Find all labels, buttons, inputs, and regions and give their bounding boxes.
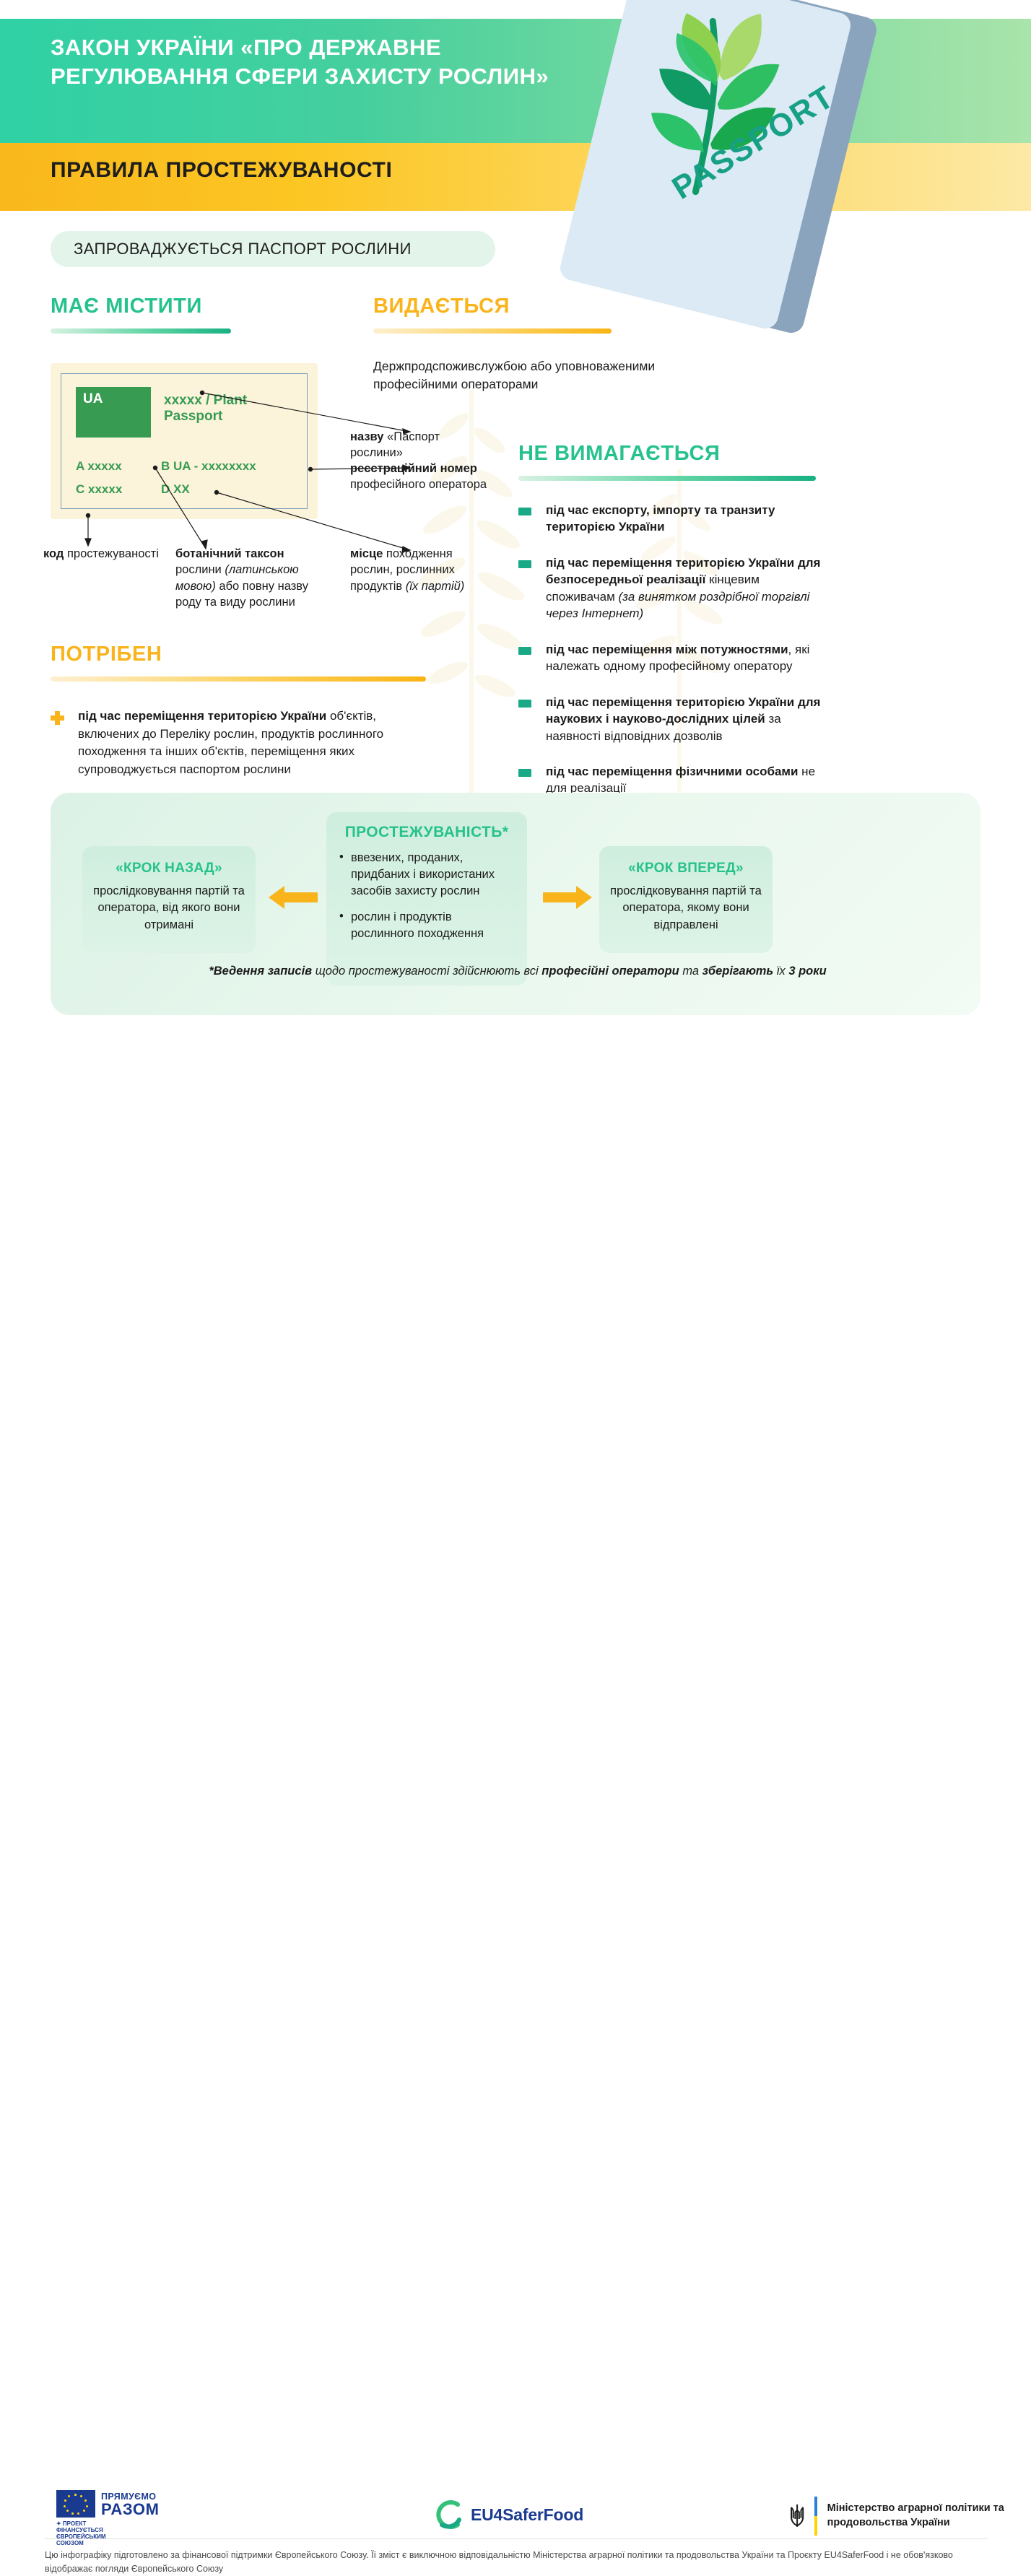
annotation-code: код простежуваності [43, 546, 166, 562]
page-footer: ПРЯМУЄМО РАЗОМ ✦ ПРОЕКТ ФІНАНСУЄТЬСЯ ЄВР… [0, 1240, 1031, 1359]
plus-bullet-icon [51, 711, 64, 725]
annotation-code-bold: код [43, 547, 64, 560]
not-required-list: під час експорту, імпорту та транзиту те… [518, 502, 827, 816]
required-item-bold: під час переміщення територією України [78, 709, 326, 723]
footnote-part-e: зберігають [702, 965, 774, 978]
step-forward-text: прослідковування партій та оператора, як… [610, 884, 762, 931]
annotation-place-bold: місце [350, 547, 383, 560]
eu4saferfood-mark-icon [433, 2498, 466, 2531]
list-item: рослин і продуктів рослинного походження [339, 909, 514, 942]
eu-flag-icon [56, 2490, 95, 2518]
traceability-step-forward-box: «КРОК ВПЕРЕД» прослідковування партій та… [599, 846, 773, 953]
list-item: під час переміщення між потужностями, як… [518, 641, 827, 675]
section-must-contain: МАЄ МІСТИТИ [51, 295, 231, 334]
annotation-name-bold: назву [350, 430, 383, 443]
ukraine-trident-icon [788, 2497, 806, 2535]
step-back-text: прослідковування партій та оператора, ві… [93, 884, 245, 931]
item-bold: під час переміщення фізичними особами [546, 765, 798, 778]
page-subtitle: ПРАВИЛА ПРОСТЕЖУВАНОСТІ [51, 158, 392, 183]
country-flag-box: UA [76, 387, 151, 438]
annotation-place-italic: (їх партій) [406, 580, 465, 593]
required-rule [51, 676, 426, 682]
item-bold: під час переміщення територією України д… [546, 556, 820, 586]
page-title: ЗАКОН УКРАЇНИ «ПРО ДЕРЖАВНЕ РЕГУЛЮВАННЯ … [51, 33, 599, 92]
ministry-name: Міністерство аграрної політики та продов… [827, 2502, 1031, 2530]
arrow-left-icon [269, 885, 318, 910]
item-bold: під час експорту, імпорту та транзиту те… [546, 503, 775, 534]
section-not-required: НЕ ВИМАГАЄТЬСЯ [518, 442, 816, 481]
must-contain-title: МАЄ МІСТИТИ [51, 295, 231, 318]
traceability-center-title: ПРОСТЕЖУВАНІСТЬ* [339, 824, 514, 841]
plant-passport-card-border: UA xxxxx / Plant Passport A xxxxx B UA -… [61, 373, 308, 509]
traceability-footnote: *Ведення записів щодо простежуваності зд… [74, 965, 962, 978]
footnote-part-c: професійні оператори [541, 965, 679, 978]
required-item: під час переміщення територією України о… [51, 708, 426, 779]
annotation-code-rest: простежуваності [64, 547, 158, 560]
issued-by-title: ВИДАЄТЬСЯ [373, 295, 612, 318]
footer-divider [45, 2538, 988, 2539]
annotation-registration: реєстраційний номер професійного операто… [350, 461, 487, 493]
list-item: під час переміщення територією України д… [518, 694, 827, 744]
not-required-rule [518, 476, 816, 481]
plant-passport-banner: ЗАПРОВАДЖУЄТЬСЯ ПАСПОРТ РОСЛИНИ [51, 231, 495, 267]
footnote-part-a: *Ведення записів [209, 965, 312, 978]
square-bullet-icon [518, 647, 531, 655]
eu4saferfood-label: EU4SaferFood [471, 2505, 583, 2525]
page-header: ЗАКОН УКРАЇНИ «ПРО ДЕРЖАВНЕ РЕГУЛЮВАННЯ … [0, 0, 1031, 211]
card-code-d: D XX [161, 482, 190, 497]
ministry-logo: Міністерство аграрної політики та продов… [788, 2497, 1031, 2536]
list-item: під час переміщення фізичними особами не… [518, 763, 827, 797]
square-bullet-icon [518, 700, 531, 708]
eu-funding-logo: ПРЯМУЄМО РАЗОМ ✦ ПРОЕКТ ФІНАНСУЄТЬСЯ ЄВР… [56, 2490, 95, 2518]
annotation-place: місце походження рослин, рослинних проду… [350, 546, 491, 594]
list-item: ввезених, проданих, придбаних і використ… [339, 850, 514, 899]
ukraine-flag-bar [814, 2497, 817, 2536]
footnote-part-g: 3 роки [788, 965, 826, 978]
square-bullet-icon [518, 508, 531, 515]
eu-logo-line2: РАЗОМ [101, 2500, 160, 2519]
issued-by-text: Держпродспоживслужбою або уповноваженими… [373, 357, 684, 394]
annotation-taxon-rest1: рослини [175, 563, 225, 576]
traceability-center-box: ПРОСТЕЖУВАНІСТЬ* ввезених, проданих, при… [326, 812, 527, 985]
square-bullet-icon [518, 560, 531, 568]
annotation-taxon: ботанічний таксон рослини (латинською мо… [175, 546, 320, 610]
traceability-center-list: ввезених, проданих, придбаних і використ… [339, 850, 514, 942]
square-bullet-icon [518, 769, 531, 777]
annotation-registration-bold: реєстраційний номер [350, 462, 477, 475]
passport-illustration: PASSPORT [578, 0, 881, 345]
card-code-c: C xxxxx [76, 482, 122, 497]
eu-logo-caption: ✦ ПРОЕКТ ФІНАНСУЄТЬСЯ ЄВРОПЕЙСЬКИМ СОЮЗО… [56, 2520, 106, 2546]
section-issued-by: ВИДАЄТЬСЯ [373, 295, 612, 334]
card-code-a: A xxxxx [76, 459, 122, 474]
annotation-taxon-bold: ботанічний таксон [175, 547, 284, 560]
eu4saferfood-logo: EU4SaferFood [433, 2498, 583, 2531]
issued-by-rule [373, 328, 612, 334]
step-back-title: «КРОК НАЗАД» [82, 859, 256, 879]
footnote-part-d: та [679, 965, 702, 978]
arrow-right-icon [543, 885, 592, 910]
annotation-name: назву «Паспорт рослини» [350, 429, 487, 461]
footnote-part-b: щодо простежуваності здійснюють всі [312, 965, 541, 978]
card-passport-title: xxxxx / Plant Passport [164, 393, 307, 425]
footer-disclaimer: Цю інфографіку підготовлено за фінансово… [45, 2549, 983, 2576]
step-forward-title: «КРОК ВПЕРЕД» [599, 859, 773, 879]
must-contain-rule [51, 328, 231, 334]
item-bold: під час переміщення між потужностями [546, 643, 788, 656]
not-required-title: НЕ ВИМАГАЄТЬСЯ [518, 442, 816, 466]
list-item: під час переміщення територією України д… [518, 554, 827, 622]
traceability-step-back-box: «КРОК НАЗАД» прослідковування партій та … [82, 846, 256, 953]
footnote-part-f: їх [773, 965, 788, 978]
plant-passport-card: UA xxxxx / Plant Passport A xxxxx B UA -… [51, 363, 318, 519]
card-code-b: B UA - xxxxxxxx [161, 459, 256, 474]
section-required: ПОТРІБЕН [51, 643, 426, 682]
required-title: ПОТРІБЕН [51, 643, 426, 666]
annotation-registration-rest: професійного оператора [350, 478, 487, 491]
list-item: під час експорту, імпорту та транзиту те… [518, 502, 827, 536]
